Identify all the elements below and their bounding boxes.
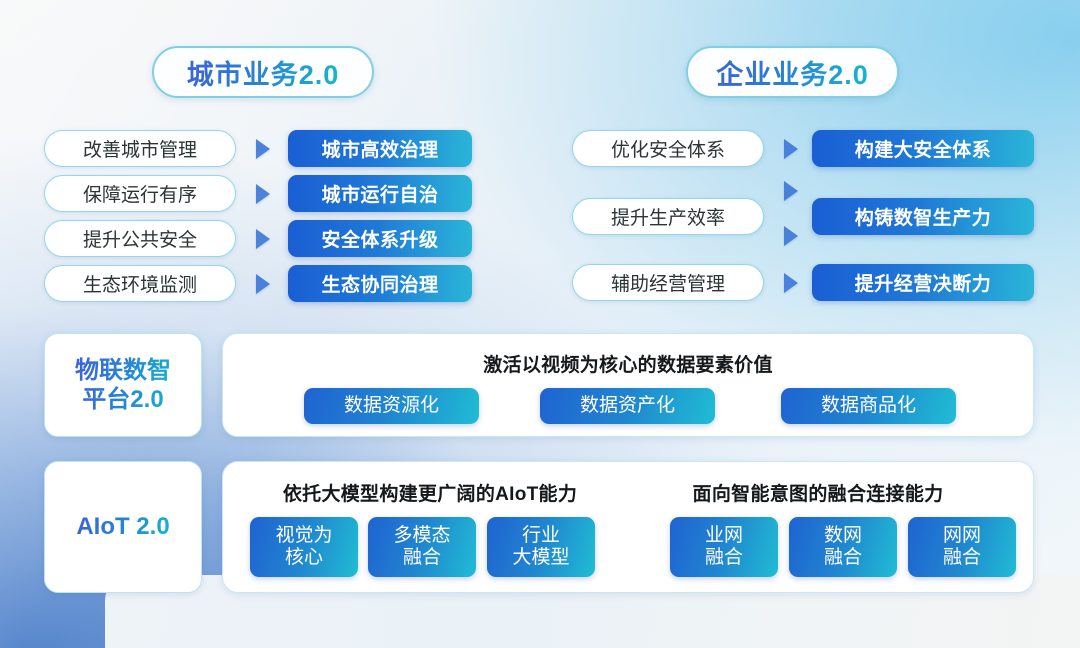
band-label-platform[interactable]: 物联数智 平台2.0 — [44, 333, 202, 437]
aiot-chip-left-2-label: 多模态 融合 — [393, 525, 450, 570]
enterprise-goal-3-label: 辅助经营管理 — [611, 269, 725, 296]
aiot-chip-left-3[interactable]: 行业 大模型 — [487, 517, 595, 577]
platform-chip-2[interactable]: 数据资产化 — [540, 388, 715, 424]
section-title-city-business-label: 城市业务2.0 — [187, 53, 340, 92]
enterprise-goal-3[interactable]: 辅助经营管理 — [572, 264, 764, 301]
aiot-chip-right-1[interactable]: 业网 融合 — [670, 517, 778, 577]
enterprise-goal-2-label: 提升生产效率 — [611, 203, 725, 230]
city-goal-3-label: 提升公共安全 — [83, 225, 197, 252]
aiot-chip-right-2-label: 数网 融合 — [824, 525, 862, 570]
arrow-right-icon — [256, 229, 270, 249]
city-goal-4-label: 生态环境监测 — [83, 270, 197, 297]
arrow-right-icon — [784, 181, 798, 201]
band-heading-aiot-left: 依托大模型构建更广阔的AIoT能力 — [283, 479, 577, 506]
platform-chip-2-label: 数据资产化 — [580, 395, 675, 417]
city-result-3[interactable]: 安全体系升级 — [288, 220, 472, 257]
city-goal-2[interactable]: 保障运行有序 — [44, 175, 236, 212]
section-title-enterprise-business-label: 企业业务2.0 — [716, 53, 869, 92]
aiot-chip-right-3-label: 网网 融合 — [943, 525, 981, 570]
city-goal-2-label: 保障运行有序 — [83, 180, 197, 207]
platform-chip-1[interactable]: 数据资源化 — [304, 388, 479, 424]
aiot-chip-left-2[interactable]: 多模态 融合 — [368, 517, 476, 577]
city-result-1[interactable]: 城市高效治理 — [288, 130, 472, 167]
arrow-right-icon — [256, 274, 270, 294]
enterprise-result-2-label: 构铸数智生产力 — [855, 203, 992, 230]
aiot-chip-right-3[interactable]: 网网 融合 — [908, 517, 1016, 577]
aiot-chip-right-1-label: 业网 融合 — [705, 525, 743, 570]
aiot-chip-right-2[interactable]: 数网 融合 — [789, 517, 897, 577]
platform-chip-3-label: 数据商品化 — [821, 395, 916, 417]
enterprise-result-3-label: 提升经营决断力 — [855, 269, 992, 296]
platform-chip-3[interactable]: 数据商品化 — [781, 388, 956, 424]
city-goal-4[interactable]: 生态环境监测 — [44, 265, 236, 302]
section-title-enterprise-business[interactable]: 企业业务2.0 — [686, 46, 899, 98]
aiot-chip-left-1-label: 视觉为 核心 — [275, 525, 332, 570]
aiot-chip-left-3-label: 行业 大模型 — [512, 525, 569, 570]
enterprise-result-1[interactable]: 构建大安全体系 — [812, 130, 1034, 167]
arrow-right-icon — [784, 226, 798, 246]
city-result-1-label: 城市高效治理 — [321, 135, 438, 162]
enterprise-result-2[interactable]: 构铸数智生产力 — [812, 198, 1034, 235]
city-result-4-label: 生态协同治理 — [321, 270, 438, 297]
enterprise-result-1-label: 构建大安全体系 — [855, 135, 992, 162]
diagram-root: 城市业务2.0 企业业务2.0 改善城市管理 保障运行有序 提升公共安全 生态环… — [0, 0, 1080, 648]
arrow-right-icon — [256, 184, 270, 204]
enterprise-goal-1-label: 优化安全体系 — [611, 135, 725, 162]
city-goal-3[interactable]: 提升公共安全 — [44, 220, 236, 257]
city-result-2-label: 城市运行自治 — [321, 180, 438, 207]
city-result-3-label: 安全体系升级 — [321, 225, 438, 252]
aiot-chip-left-1[interactable]: 视觉为 核心 — [250, 517, 358, 577]
band-heading-platform: 激活以视频为核心的数据要素价值 — [483, 350, 773, 377]
city-result-2[interactable]: 城市运行自治 — [288, 175, 472, 212]
enterprise-goal-1[interactable]: 优化安全体系 — [572, 130, 764, 167]
arrow-right-icon — [256, 139, 270, 159]
city-result-4[interactable]: 生态协同治理 — [288, 265, 472, 302]
band-label-aiot-text: AIoT 2.0 — [76, 512, 169, 541]
platform-chip-1-label: 数据资源化 — [344, 395, 439, 417]
city-goal-1[interactable]: 改善城市管理 — [44, 130, 236, 167]
city-goal-1-label: 改善城市管理 — [83, 135, 197, 162]
arrow-right-icon — [784, 273, 798, 293]
band-label-platform-text: 物联数智 平台2.0 — [75, 356, 171, 415]
enterprise-result-3[interactable]: 提升经营决断力 — [812, 264, 1034, 301]
section-title-city-business[interactable]: 城市业务2.0 — [152, 46, 374, 98]
arrow-right-icon — [784, 139, 798, 159]
band-label-aiot[interactable]: AIoT 2.0 — [44, 461, 202, 593]
enterprise-goal-2[interactable]: 提升生产效率 — [572, 198, 764, 235]
band-heading-aiot-right: 面向智能意图的融合连接能力 — [693, 479, 944, 506]
